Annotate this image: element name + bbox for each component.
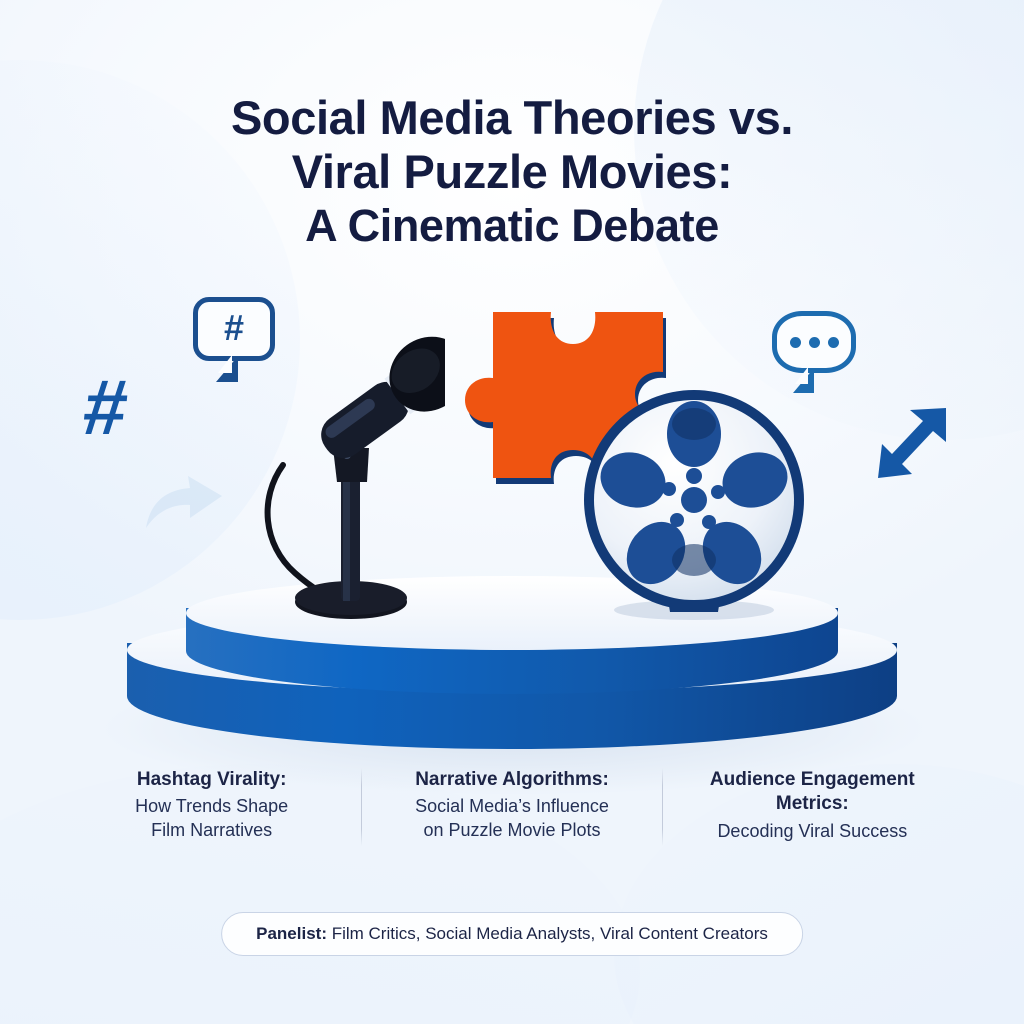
point-hashtag-virality: Hashtag Virality: How Trends ShapeFilm N… (62, 768, 361, 843)
microphone-icon (255, 330, 445, 630)
point-body: Decoding Viral Success (677, 820, 948, 844)
poster-canvas: Social Media Theories vs. Viral Puzzle M… (0, 0, 1024, 1024)
hashtag-icon: # (80, 368, 132, 446)
point-narrative-algorithms: Narrative Algorithms: Social Media’s Inf… (362, 768, 661, 843)
point-body: How Trends ShapeFilm Narratives (76, 795, 347, 843)
point-body: Social Media’s Influenceon Puzzle Movie … (376, 795, 647, 843)
point-heading: Narrative Algorithms: (376, 768, 647, 792)
point-heading: Audience EngagementMetrics: (677, 768, 948, 817)
panelist-badge: Panelist: Film Critics, Social Media Ana… (221, 912, 803, 956)
title-line-3: A Cinematic Debate (70, 200, 954, 252)
bubble-tail-inner (214, 355, 232, 373)
ellipsis-speech-bubble-icon (772, 311, 856, 373)
point-audience-engagement: Audience EngagementMetrics: Decoding Vir… (663, 768, 962, 843)
share-arrow-icon (862, 398, 958, 490)
ellipsis-dots (777, 316, 851, 368)
title-line-2: Viral Puzzle Movies: (70, 145, 954, 200)
podium (0, 590, 1024, 770)
discussion-points: Hashtag Virality: How Trends ShapeFilm N… (62, 768, 962, 846)
title-line-1: Social Media Theories vs. (70, 91, 954, 146)
panelist-label: Panelist: (256, 924, 327, 943)
reply-arrow-icon (140, 470, 226, 542)
film-reel-icon (568, 388, 820, 620)
bubble-tail-inner (792, 367, 808, 384)
page-title: Social Media Theories vs. Viral Puzzle M… (0, 91, 1024, 252)
point-heading: Hashtag Virality: (76, 768, 347, 792)
panelist-value: Film Critics, Social Media Analysts, Vir… (327, 924, 768, 943)
